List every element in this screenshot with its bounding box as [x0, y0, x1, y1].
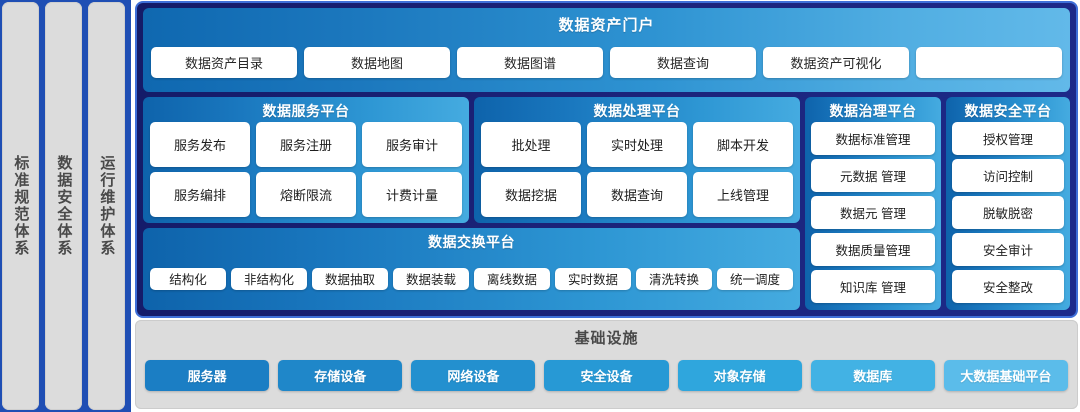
process-chip-script-dev[interactable]: 脚本开发	[693, 122, 793, 167]
infra-chip-bigdata-platform[interactable]: 大数据基础平台	[944, 360, 1068, 391]
data-exchange-platform-title: 数据交换平台	[150, 232, 793, 253]
infra-chip-server[interactable]: 服务器	[145, 360, 269, 391]
service-chip-circuit-breaker[interactable]: 熔断限流	[256, 172, 356, 217]
process-chip-data-mining[interactable]: 数据挖据	[481, 172, 581, 217]
portal-chip-asset-visualization[interactable]: 数据资产可视化	[763, 47, 909, 78]
sidebar-pillar-label: 标准规范体系	[13, 155, 29, 257]
data-service-platform-card: 数据服务平台 服务发布 服务注册 服务审计 服务编排 熔断限流 计费计量	[143, 97, 469, 223]
data-processing-platform-chip-grid: 批处理 实时处理 脚本开发 数据挖据 数据查询 上线管理	[481, 122, 793, 217]
data-asset-portal-chip-list: 数据资产目录 数据地图 数据图谱 数据查询 数据资产可视化	[151, 38, 1062, 84]
process-chip-realtime[interactable]: 实时处理	[587, 122, 687, 167]
exchange-chip-structured[interactable]: 结构化	[150, 268, 226, 290]
exchange-chip-realtime-data[interactable]: 实时数据	[555, 268, 631, 290]
sidebar-pillar-label: 数据安全体系	[56, 155, 72, 257]
portal-chip-empty[interactable]	[916, 47, 1062, 78]
portal-chip-data-map[interactable]: 数据地图	[304, 47, 450, 78]
sidebar-pillars: 标准规范体系 数据安全体系 运行维护体系	[0, 0, 131, 412]
security-chip-security-audit[interactable]: 安全审计	[952, 233, 1064, 266]
data-security-platform-card: 数据安全平台 授权管理 访问控制 脱敏脱密 安全审计 安全整改	[946, 97, 1070, 310]
infra-chip-network-device[interactable]: 网络设备	[411, 360, 535, 391]
security-chip-security-rectify[interactable]: 安全整改	[952, 270, 1064, 303]
data-exchange-platform-chip-list: 结构化 非结构化 数据抽取 数据装载 离线数据 实时数据 清洗转换 统一调度	[150, 253, 793, 304]
infrastructure-title: 基础设施	[143, 327, 1070, 350]
data-processing-platform-card: 数据处理平台 批处理 实时处理 脚本开发 数据挖据 数据查询 上线管理	[474, 97, 800, 223]
exchange-chip-unstructured[interactable]: 非结构化	[231, 268, 307, 290]
exchange-chip-load[interactable]: 数据装载	[393, 268, 469, 290]
main-area: 数据资产门户 数据资产目录 数据地图 数据图谱 数据查询 数据资产可视化	[131, 0, 1080, 412]
infrastructure-card: 基础设施 服务器 存储设备 网络设备 安全设备 对象存储 数据库 大数据基础平台	[135, 320, 1078, 409]
sidebar-pillar-standards[interactable]: 标准规范体系	[2, 2, 39, 410]
data-service-platform-chip-grid: 服务发布 服务注册 服务审计 服务编排 熔断限流 计费计量	[150, 122, 462, 217]
process-chip-batch[interactable]: 批处理	[481, 122, 581, 167]
portal-chip-data-query[interactable]: 数据查询	[610, 47, 756, 78]
sidebar-pillar-label: 运行维护体系	[99, 155, 115, 257]
security-chip-desensitization[interactable]: 脱敏脱密	[952, 196, 1064, 229]
service-chip-register[interactable]: 服务注册	[256, 122, 356, 167]
exchange-chip-scheduling[interactable]: 统一调度	[717, 268, 793, 290]
governance-chip-metadata[interactable]: 元数据 管理	[811, 159, 935, 192]
data-governance-platform-card: 数据治理平台 数据标准管理 元数据 管理 数据元 管理 数据质量管理 知识库 管…	[805, 97, 941, 310]
data-security-platform-chip-list: 授权管理 访问控制 脱敏脱密 安全审计 安全整改	[952, 122, 1064, 304]
exchange-chip-extract[interactable]: 数据抽取	[312, 268, 388, 290]
infra-chip-storage-device[interactable]: 存储设备	[278, 360, 402, 391]
infrastructure-chip-list: 服务器 存储设备 网络设备 安全设备 对象存储 数据库 大数据基础平台	[143, 350, 1070, 400]
process-chip-release-mgmt[interactable]: 上线管理	[693, 172, 793, 217]
platform-stack-container: 数据资产门户 数据资产目录 数据地图 数据图谱 数据查询 数据资产可视化	[135, 1, 1078, 318]
data-service-platform-title: 数据服务平台	[150, 101, 462, 122]
infra-chip-database[interactable]: 数据库	[811, 360, 935, 391]
service-chip-audit[interactable]: 服务审计	[362, 122, 462, 167]
infra-chip-security-device[interactable]: 安全设备	[544, 360, 668, 391]
data-exchange-platform-card: 数据交换平台 结构化 非结构化 数据抽取 数据装载 离线数据 实时数据 清洗转换…	[143, 228, 800, 310]
platforms-left-column: 数据服务平台 服务发布 服务注册 服务审计 服务编排 熔断限流 计费计量	[143, 97, 800, 310]
governance-chip-data-quality[interactable]: 数据质量管理	[811, 233, 935, 266]
sidebar-pillar-operations[interactable]: 运行维护体系	[88, 2, 125, 410]
security-chip-authorization[interactable]: 授权管理	[952, 122, 1064, 155]
service-chip-billing[interactable]: 计费计量	[362, 172, 462, 217]
exchange-chip-offline-data[interactable]: 离线数据	[474, 268, 550, 290]
data-processing-platform-title: 数据处理平台	[481, 101, 793, 122]
security-chip-access-control[interactable]: 访问控制	[952, 159, 1064, 192]
process-chip-data-query[interactable]: 数据查询	[587, 172, 687, 217]
sidebar-pillar-data-security[interactable]: 数据安全体系	[45, 2, 82, 410]
portal-chip-data-graph[interactable]: 数据图谱	[457, 47, 603, 78]
data-governance-platform-title: 数据治理平台	[811, 101, 935, 122]
service-chip-orchestration[interactable]: 服务编排	[150, 172, 250, 217]
data-asset-portal-title: 数据资产门户	[151, 14, 1062, 38]
platforms-row: 数据服务平台 服务发布 服务注册 服务审计 服务编排 熔断限流 计费计量	[143, 97, 1070, 310]
service-chip-publish[interactable]: 服务发布	[150, 122, 250, 167]
governance-chip-data-standard[interactable]: 数据标准管理	[811, 122, 935, 155]
platforms-upper-row: 数据服务平台 服务发布 服务注册 服务审计 服务编排 熔断限流 计费计量	[143, 97, 800, 223]
governance-chip-knowledge-base[interactable]: 知识库 管理	[811, 270, 935, 303]
infra-chip-object-storage[interactable]: 对象存储	[678, 360, 802, 391]
governance-chip-data-element[interactable]: 数据元 管理	[811, 196, 935, 229]
data-governance-platform-chip-list: 数据标准管理 元数据 管理 数据元 管理 数据质量管理 知识库 管理	[811, 122, 935, 304]
data-security-platform-title: 数据安全平台	[952, 101, 1064, 122]
architecture-diagram: 标准规范体系 数据安全体系 运行维护体系 数据资产门户 数据资产目录 数据地图 …	[0, 0, 1080, 412]
data-asset-portal-card: 数据资产门户 数据资产目录 数据地图 数据图谱 数据查询 数据资产可视化	[143, 8, 1070, 92]
portal-chip-asset-catalog[interactable]: 数据资产目录	[151, 47, 297, 78]
exchange-chip-cleansing[interactable]: 清洗转换	[636, 268, 712, 290]
